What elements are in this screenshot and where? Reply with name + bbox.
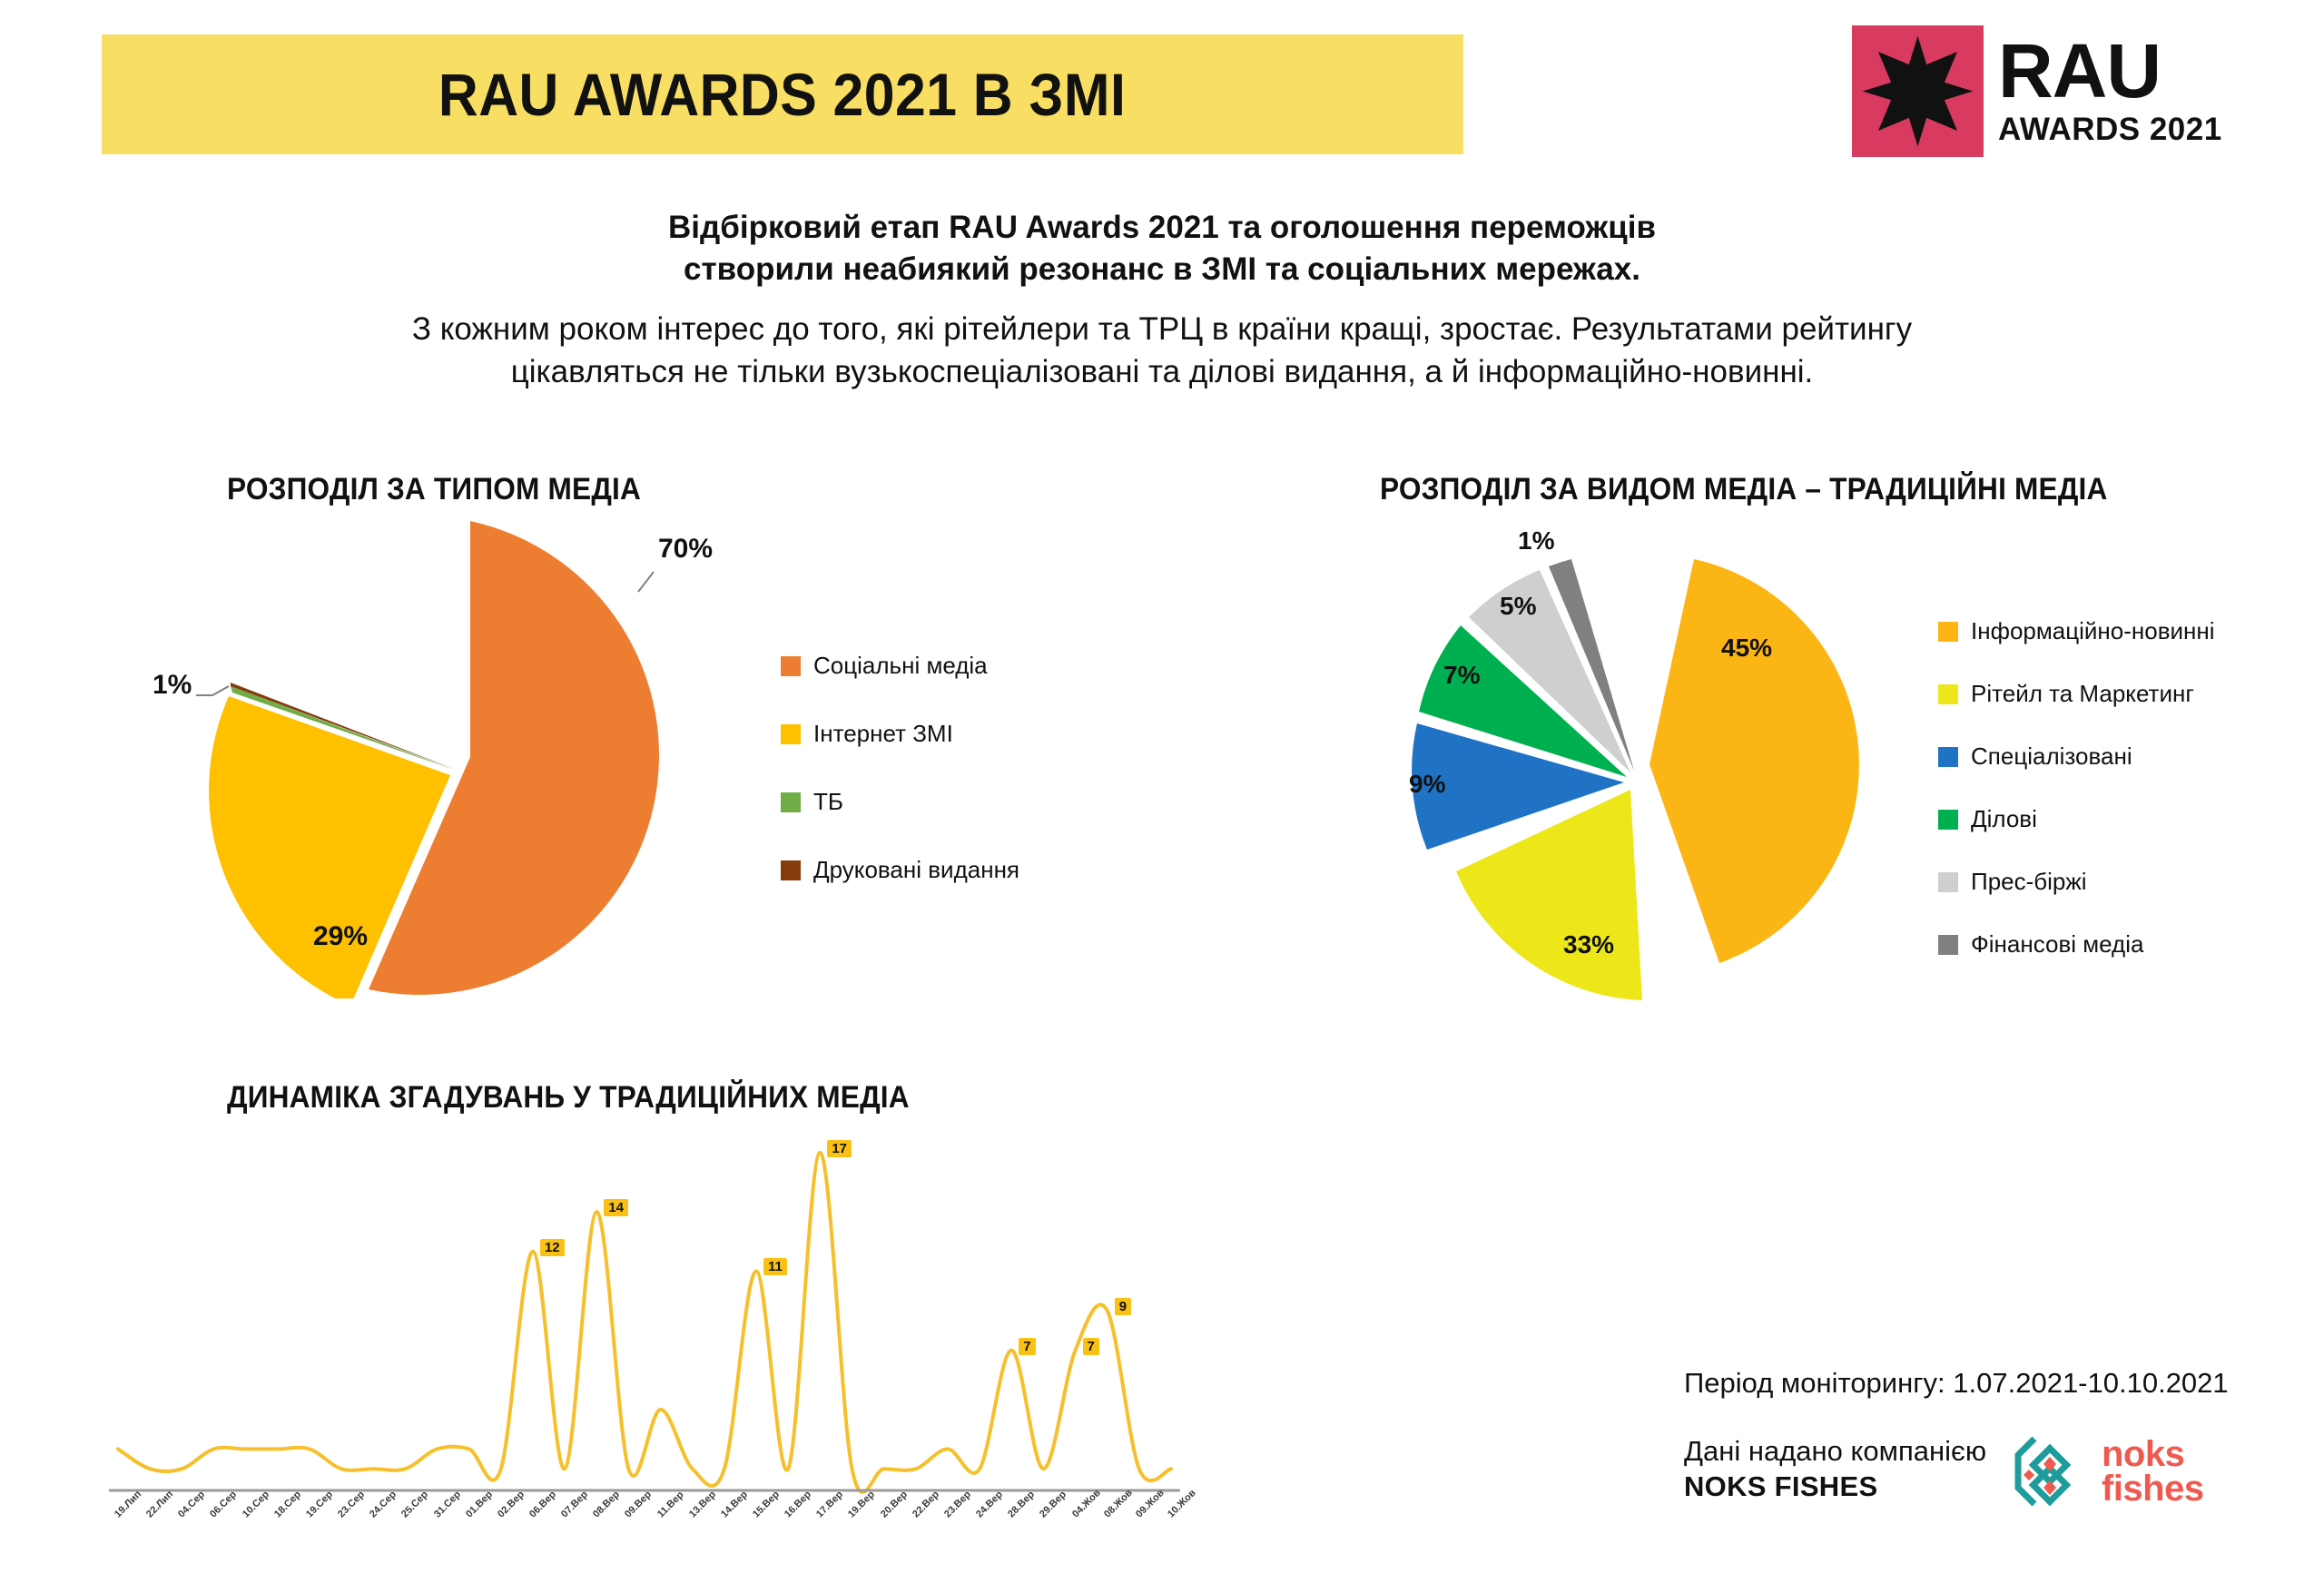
- legend-item-business[interactable]: Ділові: [1938, 805, 2215, 833]
- legend-swatch-social-media: [781, 656, 801, 676]
- line-point-label: 12: [540, 1239, 565, 1256]
- line-point-label: 7: [1083, 1338, 1099, 1355]
- intro-body: З кожним роком інтерес до того, які ріте…: [163, 309, 2161, 394]
- legend-label-print-media: Друковані видання: [813, 856, 1019, 884]
- pie-leader-line-70: [638, 572, 654, 592]
- pie-leader-line-1: [196, 686, 229, 695]
- title-banner: RAU AWARDS 2021 В ЗМІ: [102, 34, 1463, 154]
- chart-title-media-type: РОЗПОДІЛ ЗА ТИПОМ МЕДІА: [227, 472, 641, 507]
- chart-title-media-kind: РОЗПОДІЛ ЗА ВИДОМ МЕДІА – ТРАДИЦІЙНІ МЕД…: [1380, 472, 2108, 507]
- legend-swatch-retail-marketing: [1938, 684, 1958, 704]
- line-point-label: 17: [827, 1140, 852, 1157]
- noks-logo-mark-icon: [2011, 1430, 2089, 1513]
- legend-swatch-news: [1938, 622, 1958, 642]
- line-point-label: 14: [604, 1199, 628, 1216]
- data-provider-company: NOKS FISHES: [1684, 1470, 1877, 1502]
- pie-value-label-9: 9%: [1409, 770, 1445, 799]
- legend-swatch-print-media: [781, 860, 801, 880]
- legend-media-type: Соціальні медіа Інтернет ЗМІ ТБ Друкован…: [781, 652, 1019, 924]
- legend-label-internet-media: Інтернет ЗМІ: [813, 720, 953, 748]
- legend-swatch-press-exchange: [1938, 872, 1958, 892]
- infographic-page: RAU AWARDS 2021 В ЗМІ RAU AWARDS 2021: [0, 0, 2324, 1583]
- legend-label-social-media: Соціальні медіа: [813, 652, 988, 680]
- intro-lead: Відбірковий етап RAU Awards 2021 та огол…: [272, 207, 2052, 290]
- noks-logo-word-bottom: fishes: [2102, 1471, 2204, 1506]
- legend-item-specialized[interactable]: Спеціалізовані: [1938, 742, 2215, 771]
- line-point-label: 7: [1019, 1338, 1035, 1355]
- legend-label-financial-media: Фінансові медіа: [1971, 930, 2143, 959]
- legend-swatch-tv: [781, 792, 801, 812]
- legend-media-kind: Інформаційно-новинні Рітейл та Маркетинг…: [1938, 617, 2215, 993]
- legend-item-tv[interactable]: ТБ: [781, 788, 1019, 816]
- rau-logo-mark: [1852, 25, 1984, 157]
- pie-value-label-70: 70%: [658, 534, 713, 565]
- legend-swatch-specialized: [1938, 747, 1958, 767]
- legend-item-press-exchange[interactable]: Прес-біржі: [1938, 868, 2215, 896]
- line-chart-svg: [109, 1116, 1180, 1498]
- intro-lead-line1: Відбірковий етап RAU Awards 2021 та огол…: [272, 207, 2052, 249]
- pie-value-label-33: 33%: [1563, 930, 1614, 959]
- data-provider-line: Дані надано компанією: [1684, 1434, 1986, 1470]
- pie-slice-news: [1649, 559, 1859, 963]
- legend-item-news[interactable]: Інформаційно-новинні: [1938, 617, 2215, 645]
- pie-value-label-7: 7%: [1443, 661, 1480, 690]
- legend-swatch-business: [1938, 810, 1958, 830]
- legend-label-business: Ділові: [1971, 805, 2037, 833]
- legend-label-press-exchange: Прес-біржі: [1971, 868, 2087, 896]
- legend-item-retail-marketing[interactable]: Рітейл та Маркетинг: [1938, 680, 2215, 708]
- legend-label-retail-marketing: Рітейл та Маркетинг: [1971, 680, 2194, 708]
- legend-label-tv: ТБ: [813, 788, 843, 816]
- rau-logo-brand: RAU: [1998, 38, 2222, 103]
- pie-slice-social-media: [369, 521, 659, 995]
- rau-awards-logo: RAU AWARDS 2021: [1852, 25, 2222, 159]
- intro-body-line2: цікавляться не тільки вузькоспеціалізова…: [163, 351, 2161, 394]
- eight-point-star-icon: [1852, 25, 1984, 157]
- monitoring-period: Період моніторингу: 1.07.2021-10.10.2021: [1684, 1367, 2229, 1400]
- noks-logo-word-top: noks: [2102, 1437, 2204, 1471]
- legend-swatch-internet-media: [781, 724, 801, 744]
- intro-lead-line2: створили неабиякий резонанс в ЗМІ та соц…: [272, 249, 2052, 290]
- pie-chart-media-kind: 45% 33% 9% 7% 5% 1%: [1362, 517, 1906, 1030]
- legend-item-print-media[interactable]: Друковані видання: [781, 856, 1019, 884]
- chart-title-mentions-dynamics: ДИНАМІКА ЗГАДУВАНЬ У ТРАДИЦІЙНИХ МЕДІА: [227, 1080, 910, 1116]
- pie-chart-media-type: 70% 1% 29%: [182, 508, 744, 1003]
- line-series-mentions: [118, 1153, 1171, 1492]
- legend-label-news: Інформаційно-новинні: [1971, 617, 2215, 645]
- pie-value-label-29: 29%: [313, 921, 368, 952]
- x-axis-tick-labels: 19.Лип22.Лип04.Сер06.Сер10.Сер18.Сер19.С…: [109, 1505, 1180, 1578]
- legend-item-financial-media[interactable]: Фінансові медіа: [1938, 930, 2215, 959]
- legend-label-specialized: Спеціалізовані: [1971, 742, 2132, 771]
- line-point-label: 11: [763, 1258, 787, 1275]
- line-point-label: 9: [1115, 1298, 1131, 1315]
- legend-swatch-financial-media: [1938, 935, 1958, 955]
- page-title: RAU AWARDS 2021 В ЗМІ: [438, 60, 1126, 129]
- data-provider: Дані надано компанією NOKS FISHES: [1684, 1434, 1986, 1505]
- line-chart-mentions-dynamics: 12141117779: [109, 1116, 1180, 1502]
- pie-value-label-1: 1%: [1518, 526, 1554, 556]
- noks-logo-wordmark: noks fishes: [2102, 1437, 2204, 1506]
- pie-value-label-1: 1%: [153, 670, 192, 701]
- pie-value-label-5: 5%: [1500, 592, 1536, 621]
- rau-logo-text: RAU AWARDS 2021: [1998, 25, 2222, 159]
- legend-item-internet-media[interactable]: Інтернет ЗМІ: [781, 720, 1019, 748]
- noks-fishes-logo: noks fishes: [2011, 1430, 2204, 1513]
- pie-value-label-45: 45%: [1721, 634, 1772, 663]
- legend-item-social-media[interactable]: Соціальні медіа: [781, 652, 1019, 680]
- intro-body-line1: З кожним роком інтерес до того, які ріте…: [163, 309, 2161, 351]
- rau-logo-subtitle: AWARDS 2021: [1998, 112, 2222, 148]
